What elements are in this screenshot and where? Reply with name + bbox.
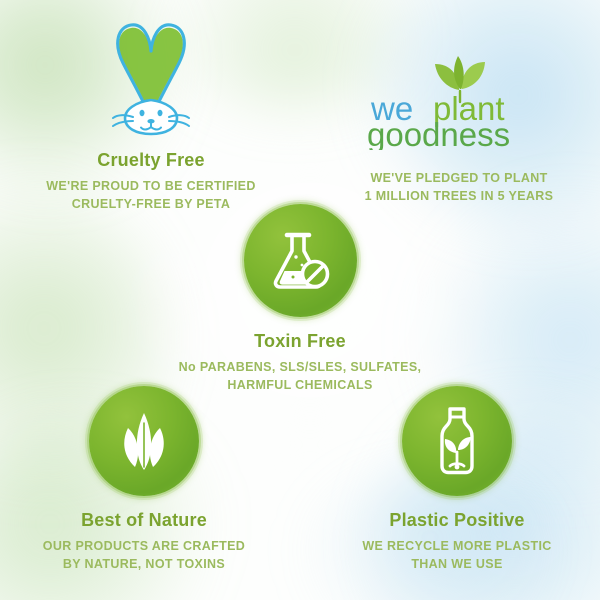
spacer — [170, 317, 430, 331]
flask-no-toxins-icon — [265, 226, 335, 296]
badge-best-of-nature: Best of Nature OUR PRODUCTS ARE CRAFTED … — [15, 386, 273, 573]
badge-we-plant-goodness: we plant goodness WE'VE PLEDGED TO PLANT… — [330, 40, 588, 205]
subtitle-line: No PARABENS, SLS/SLES, SULFATES, — [170, 358, 430, 376]
spacer — [328, 496, 586, 510]
spacer — [330, 152, 588, 163]
badge-plastic-positive: Plastic Positive WE RECYCLE MORE PLASTIC… — [328, 386, 586, 573]
medallion-plastic-positive — [402, 386, 512, 496]
badge-toxin-free: Toxin Free No PARABENS, SLS/SLES, SULFAT… — [170, 204, 430, 394]
badge-subtitle-we-plant-goodness: WE'VE PLEDGED TO PLANT 1 MILLION TREES I… — [330, 169, 588, 205]
badge-title-best-of-nature: Best of Nature — [15, 510, 273, 531]
badge-subtitle-plastic-positive: WE RECYCLE MORE PLASTIC THAN WE USE — [328, 537, 586, 573]
bottle-with-sprout-icon — [426, 405, 488, 477]
subtitle-line: THAN WE USE — [328, 555, 586, 573]
badge-title-toxin-free: Toxin Free — [170, 331, 430, 352]
subtitle-line: OUR PRODUCTS ARE CRAFTED — [15, 537, 273, 555]
badge-title-cruelty-free: Cruelty Free — [22, 150, 280, 171]
subtitle-line: BY NATURE, NOT TOXINS — [15, 555, 273, 573]
subtitle-line: WE RECYCLE MORE PLASTIC — [328, 537, 586, 555]
badge-subtitle-best-of-nature: OUR PRODUCTS ARE CRAFTED BY NATURE, NOT … — [15, 537, 273, 573]
three-leaves-icon — [111, 407, 177, 475]
medallion-best-of-nature — [89, 386, 199, 496]
subtitle-line: 1 MILLION TREES IN 5 YEARS — [330, 187, 588, 205]
peta-cruelty-free-bunny-icon — [22, 14, 280, 136]
logo-word-goodness: goodness — [367, 116, 510, 150]
subtitle-line: WE'VE PLEDGED TO PLANT — [330, 169, 588, 187]
spacer — [22, 136, 280, 150]
subtitle-line: WE'RE PROUD TO BE CERTIFIED — [22, 177, 280, 195]
badge-title-plastic-positive: Plastic Positive — [328, 510, 586, 531]
medallion-toxin-free — [244, 204, 357, 317]
we-plant-goodness-logo: we plant goodness — [330, 40, 588, 152]
brand-promise-poster: Cruelty Free WE'RE PROUD TO BE CERTIFIED… — [0, 0, 600, 600]
spacer — [15, 496, 273, 510]
badge-cruelty-free: Cruelty Free WE'RE PROUD TO BE CERTIFIED… — [22, 14, 280, 213]
